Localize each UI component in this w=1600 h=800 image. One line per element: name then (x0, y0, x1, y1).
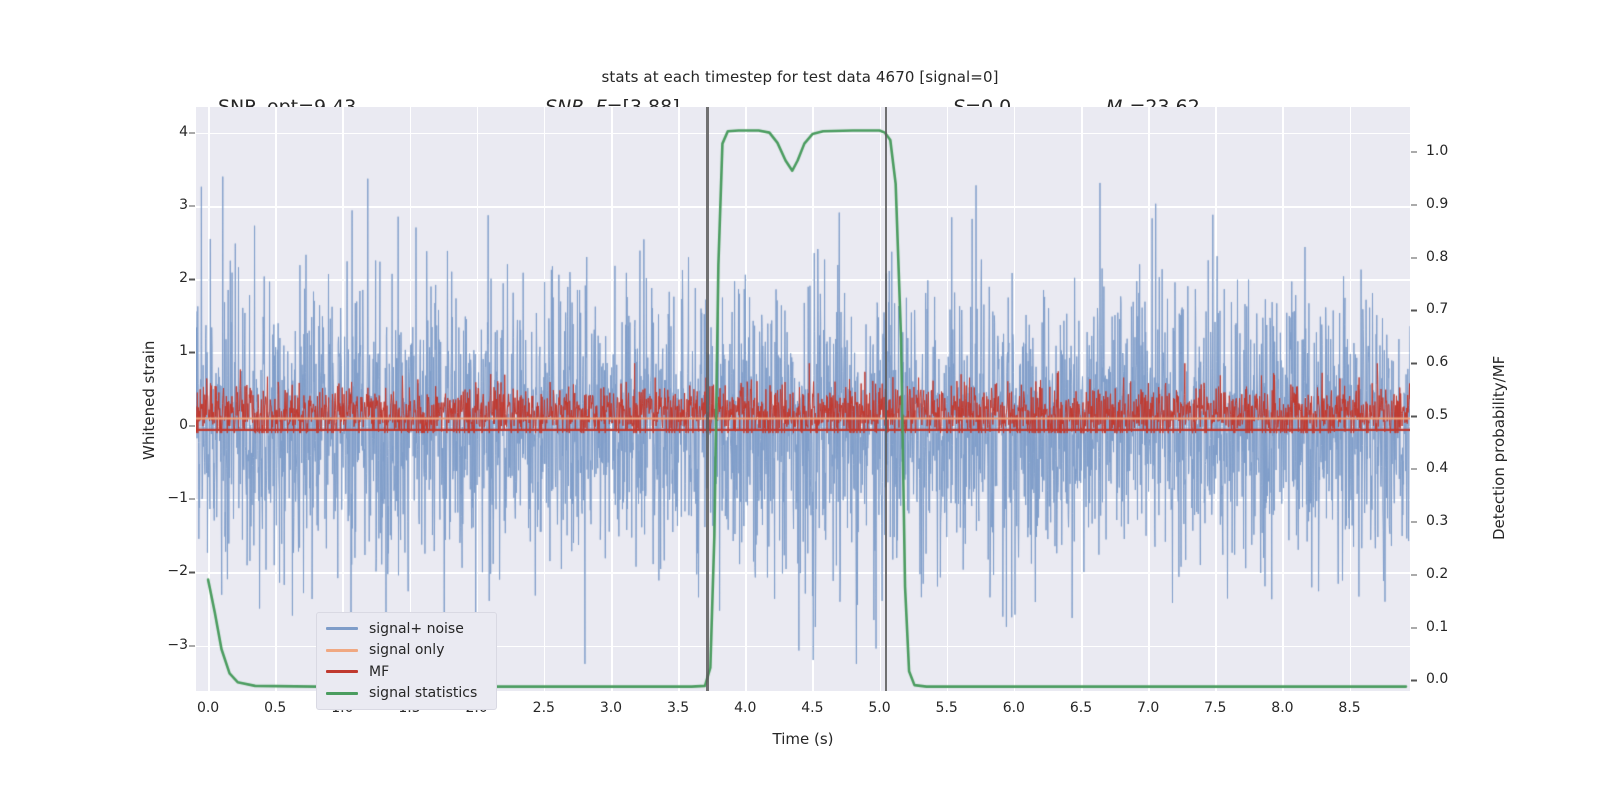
y-tick-label-left: 4 (150, 124, 188, 140)
y-tick-label-left: 3 (150, 197, 188, 213)
legend: signal+ noisesignal onlyMFsignal statist… (316, 612, 497, 710)
y-tick-label-right: 0.4 (1426, 460, 1448, 476)
x-tick-label: 3.5 (648, 700, 708, 716)
y-tick-mark-left (189, 645, 195, 646)
y-tick-label-right: 0.0 (1426, 671, 1448, 687)
y-tick-mark-left (189, 499, 195, 500)
y-tick-mark-right (1411, 204, 1417, 205)
y-tick-mark-right (1411, 627, 1417, 628)
page-title: stats at each timestep for test data 467… (0, 68, 1600, 86)
legend-swatch-icon (326, 627, 358, 630)
y-tick-label-left: −3 (150, 637, 188, 653)
legend-item[interactable]: signal only (317, 640, 496, 662)
x-tick-label: 6.5 (1051, 700, 1111, 716)
y-tick-label-right: 1.0 (1426, 143, 1448, 159)
vertical-marker-trigger-start (706, 107, 708, 691)
legend-item[interactable]: signal+ noise (317, 618, 496, 640)
y-tick-mark-left (189, 572, 195, 573)
y-tick-label-right: 0.2 (1426, 566, 1448, 582)
y-tick-mark-right (1411, 521, 1417, 522)
y-tick-label-right: 0.9 (1426, 196, 1448, 212)
legend-swatch-icon (326, 692, 358, 695)
y-tick-mark-right (1411, 574, 1417, 575)
y-tick-mark-right (1411, 151, 1417, 152)
y-tick-label-left: −2 (150, 563, 188, 579)
y-tick-mark-left (189, 205, 195, 206)
y-tick-mark-right (1411, 310, 1417, 311)
figure-canvas: stats at each timestep for test data 467… (0, 0, 1600, 800)
x-tick-label: 5.0 (850, 700, 910, 716)
x-tick-label: 3.0 (581, 700, 641, 716)
legend-item-label: signal only (369, 642, 444, 658)
y-axis-label-right: Detection probability/MF (1490, 356, 1508, 540)
legend-item[interactable]: MF (317, 661, 496, 683)
legend-item[interactable]: signal statistics (317, 683, 496, 705)
y-tick-mark-right (1411, 680, 1417, 681)
legend-swatch-icon (326, 670, 358, 673)
vertical-marker-trigger-end (885, 107, 887, 691)
y-tick-mark-right (1411, 257, 1417, 258)
legend-item-label: signal statistics (369, 685, 477, 701)
x-tick-label: 7.5 (1185, 700, 1245, 716)
x-tick-label: 5.5 (917, 700, 977, 716)
y-tick-label-right: 0.1 (1426, 619, 1448, 635)
y-tick-mark-left (189, 352, 195, 353)
y-tick-mark-right (1411, 469, 1417, 470)
x-tick-label: 2.5 (514, 700, 574, 716)
y-tick-label-right: 0.8 (1426, 249, 1448, 265)
x-tick-label: 8.5 (1320, 700, 1380, 716)
x-tick-label: 6.0 (984, 700, 1044, 716)
legend-item-label: MF (369, 664, 389, 680)
x-tick-label: 4.5 (782, 700, 842, 716)
y-tick-mark-right (1411, 363, 1417, 364)
y-tick-mark-left (189, 425, 195, 426)
y-tick-label-left: −1 (150, 490, 188, 506)
legend-swatch-icon (326, 649, 358, 652)
x-tick-label: 8.0 (1252, 700, 1312, 716)
x-tick-label: 4.0 (715, 700, 775, 716)
y-tick-label-right: 0.5 (1426, 407, 1448, 423)
y-tick-label-left: 0 (150, 417, 188, 433)
y-tick-mark-left (189, 132, 195, 133)
y-tick-label-left: 2 (150, 270, 188, 286)
x-tick-label: 7.0 (1118, 700, 1178, 716)
series-plot (196, 107, 1410, 691)
y-tick-mark-right (1411, 416, 1417, 417)
x-tick-label: 0.0 (178, 700, 238, 716)
legend-item-label: signal+ noise (369, 621, 464, 637)
x-tick-label: 0.5 (245, 700, 305, 716)
plot-area (196, 107, 1410, 691)
y-tick-label-right: 0.6 (1426, 354, 1448, 370)
x-axis-label: Time (s) (196, 730, 1410, 748)
y-tick-label-left: 1 (150, 343, 188, 359)
y-tick-mark-left (189, 279, 195, 280)
y-tick-label-right: 0.7 (1426, 301, 1448, 317)
y-tick-label-right: 0.3 (1426, 513, 1448, 529)
